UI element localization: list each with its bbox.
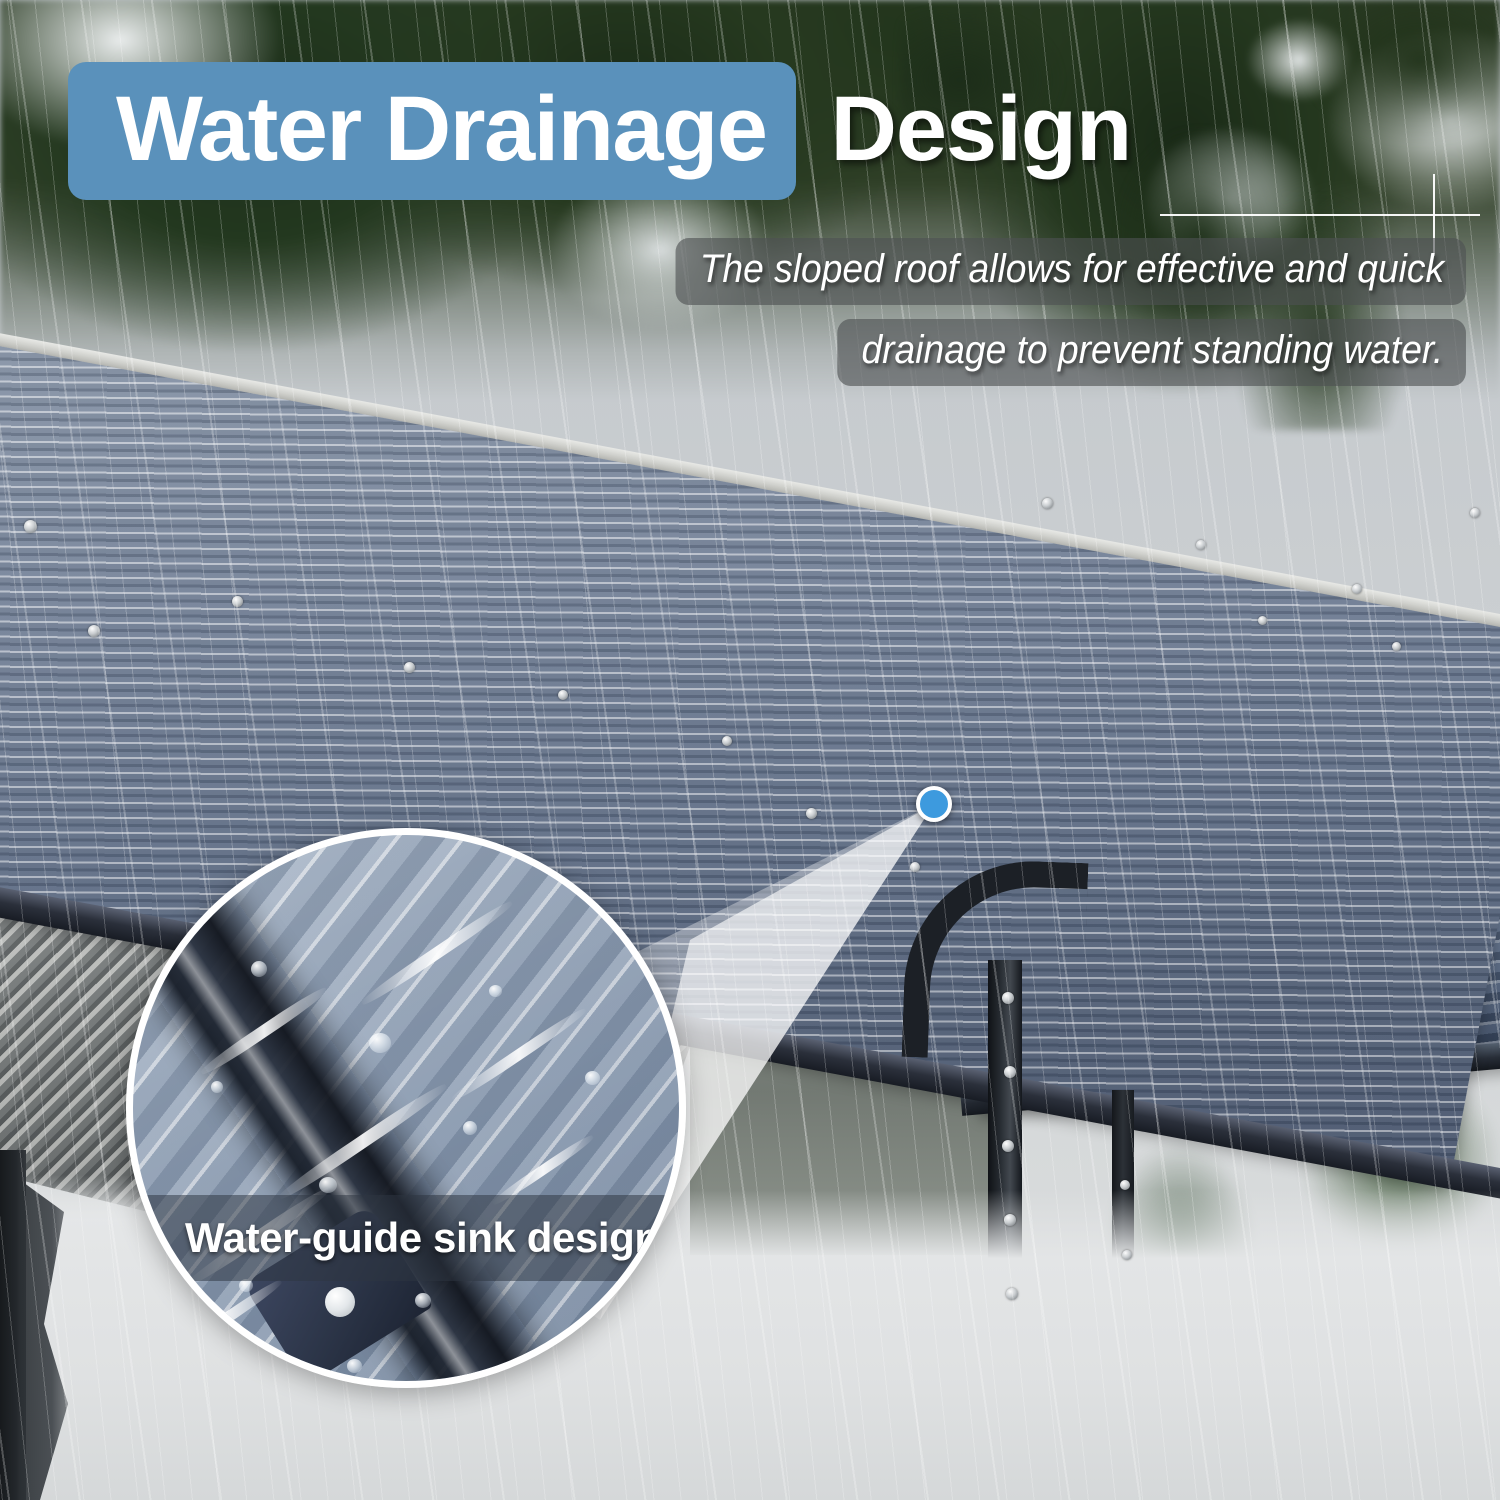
title-badge: Water Drainage: [68, 62, 796, 201]
water-droplet: [347, 1359, 362, 1373]
title-tail-text: Design: [830, 88, 1131, 171]
roof-bolt: [910, 862, 920, 872]
water-streak: [450, 1005, 589, 1104]
roof-bolt: [1120, 1180, 1130, 1190]
water-droplet: [585, 1071, 600, 1085]
roof-bolt: [1196, 540, 1206, 550]
roof-bolt: [1470, 508, 1480, 518]
title-badge-text: Water Drainage: [116, 88, 766, 171]
roof-bolt: [806, 808, 817, 819]
roof-bolt: [1004, 1214, 1016, 1226]
magnifier-label-text: Water-guide sink design: [185, 1214, 660, 1262]
roof-bolt: [558, 690, 568, 700]
magnifier-label-band: Water-guide sink design: [126, 1195, 686, 1281]
product-feature-image: Water-guide sink design Water Drainage D…: [0, 0, 1500, 1500]
roof-bolt: [1392, 642, 1401, 651]
roof-bolt: [1006, 1288, 1018, 1300]
subtitle-line: The sloped roof allows for effective and…: [675, 238, 1466, 305]
magnifier-circle[interactable]: Water-guide sink design: [126, 828, 686, 1388]
decorative-hairline-horizontal: [1160, 214, 1480, 216]
channel-cap-bolt: [325, 1287, 355, 1317]
roof-bolt: [24, 520, 37, 533]
subtitle-line: drainage to prevent standing water.: [838, 319, 1466, 386]
page-title: Water Drainage Design: [0, 56, 1500, 206]
callout-marker-dot[interactable]: [916, 786, 952, 822]
roof-bolt: [232, 596, 243, 607]
roof-bolt: [1042, 498, 1053, 509]
roof-bolt: [1002, 992, 1014, 1004]
subtitle-block: The sloped roof allows for effective and…: [0, 238, 1466, 386]
roof-bolt: [1352, 584, 1362, 594]
roof-bolt: [88, 625, 100, 637]
roof-bolt: [1004, 1066, 1016, 1078]
roof-bolt: [1258, 616, 1267, 625]
roof-bolt: [404, 662, 415, 673]
water-droplet: [369, 1033, 391, 1053]
roof-bolt: [1122, 1250, 1132, 1260]
water-droplet: [415, 1293, 431, 1308]
water-droplet: [211, 1081, 223, 1093]
roof-bolt: [722, 736, 732, 746]
roof-bolt: [1002, 1140, 1014, 1152]
water-droplet: [251, 961, 267, 977]
water-droplet: [463, 1121, 477, 1135]
water-droplet: [489, 985, 502, 997]
